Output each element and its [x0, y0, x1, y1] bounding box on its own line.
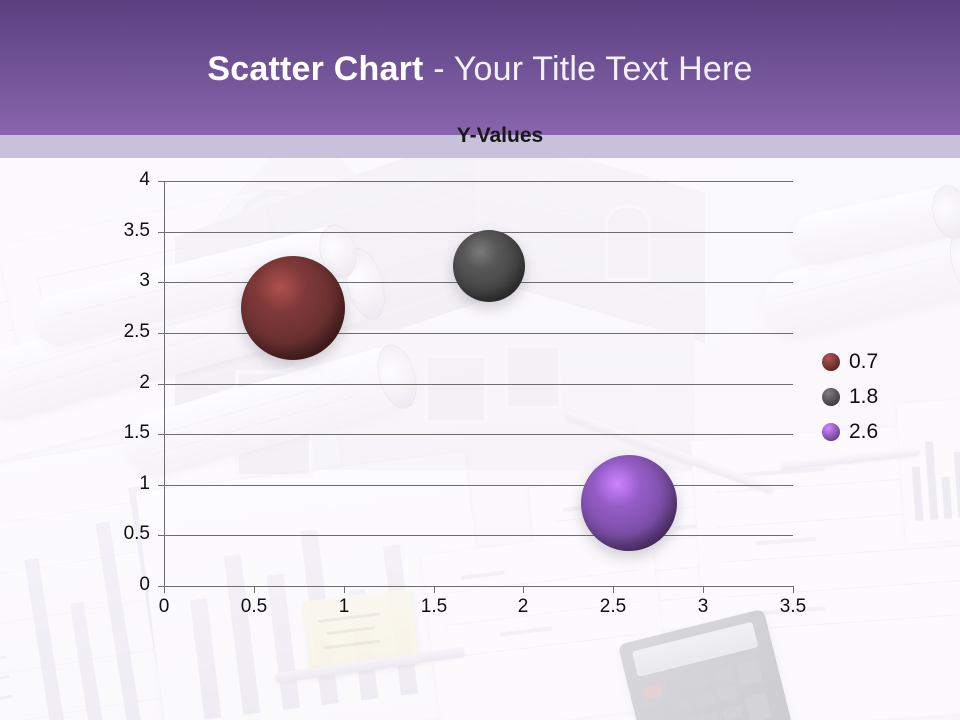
y-tick-label: 2	[92, 372, 150, 394]
y-tick-label: 2.5	[92, 321, 150, 343]
data-point-bubble[interactable]	[453, 230, 525, 302]
data-point-bubble[interactable]	[241, 256, 345, 360]
legend-label: 2.6	[849, 420, 878, 444]
x-tick-mark	[434, 586, 435, 593]
x-tick-mark	[523, 586, 524, 593]
data-point-bubble[interactable]	[581, 455, 677, 551]
x-tick-mark	[164, 586, 165, 593]
x-tick-mark	[344, 586, 345, 593]
chart-legend: 0.71.82.6	[822, 344, 952, 449]
y-tick-label: 1	[92, 473, 150, 495]
legend-marker-icon	[822, 423, 840, 441]
y-tick-label: 4	[92, 169, 150, 191]
scatter-chart: 00.511.522.533.54 00.511.522.533.5 0.71.…	[0, 0, 960, 720]
y-gridline	[164, 181, 793, 182]
x-tick-mark	[254, 586, 255, 593]
y-gridline	[164, 535, 793, 536]
x-tick-label: 2.5	[583, 596, 643, 618]
y-axis-line	[164, 181, 165, 586]
x-tick-label: 0.5	[224, 596, 284, 618]
y-tick-label: 3	[92, 270, 150, 292]
x-tick-label: 2	[493, 596, 553, 618]
y-gridline	[164, 384, 793, 385]
legend-marker-icon	[822, 388, 840, 406]
x-tick-label: 3.5	[763, 596, 823, 618]
x-tick-mark	[703, 586, 704, 593]
x-tick-label: 1	[314, 596, 374, 618]
x-axis: 00.511.522.533.5	[164, 586, 793, 626]
x-tick-mark	[793, 586, 794, 593]
legend-item[interactable]: 1.8	[822, 379, 952, 414]
legend-marker-icon	[822, 353, 840, 371]
y-tick-label: 0	[92, 574, 150, 596]
legend-label: 0.7	[849, 350, 878, 374]
x-tick-label: 1.5	[404, 596, 464, 618]
x-tick-mark	[613, 586, 614, 593]
y-gridline	[164, 485, 793, 486]
y-tick-label: 3.5	[92, 220, 150, 242]
legend-label: 1.8	[849, 385, 878, 409]
y-gridline	[164, 434, 793, 435]
x-tick-label: 3	[673, 596, 733, 618]
legend-item[interactable]: 2.6	[822, 414, 952, 449]
x-axis-line	[164, 586, 793, 587]
legend-item[interactable]: 0.7	[822, 344, 952, 379]
y-tick-label: 1.5	[92, 422, 150, 444]
slide: Scatter Chart - Your Title Text Here Y-V…	[0, 0, 960, 720]
x-tick-label: 0	[134, 596, 194, 618]
y-tick-label: 0.5	[92, 523, 150, 545]
